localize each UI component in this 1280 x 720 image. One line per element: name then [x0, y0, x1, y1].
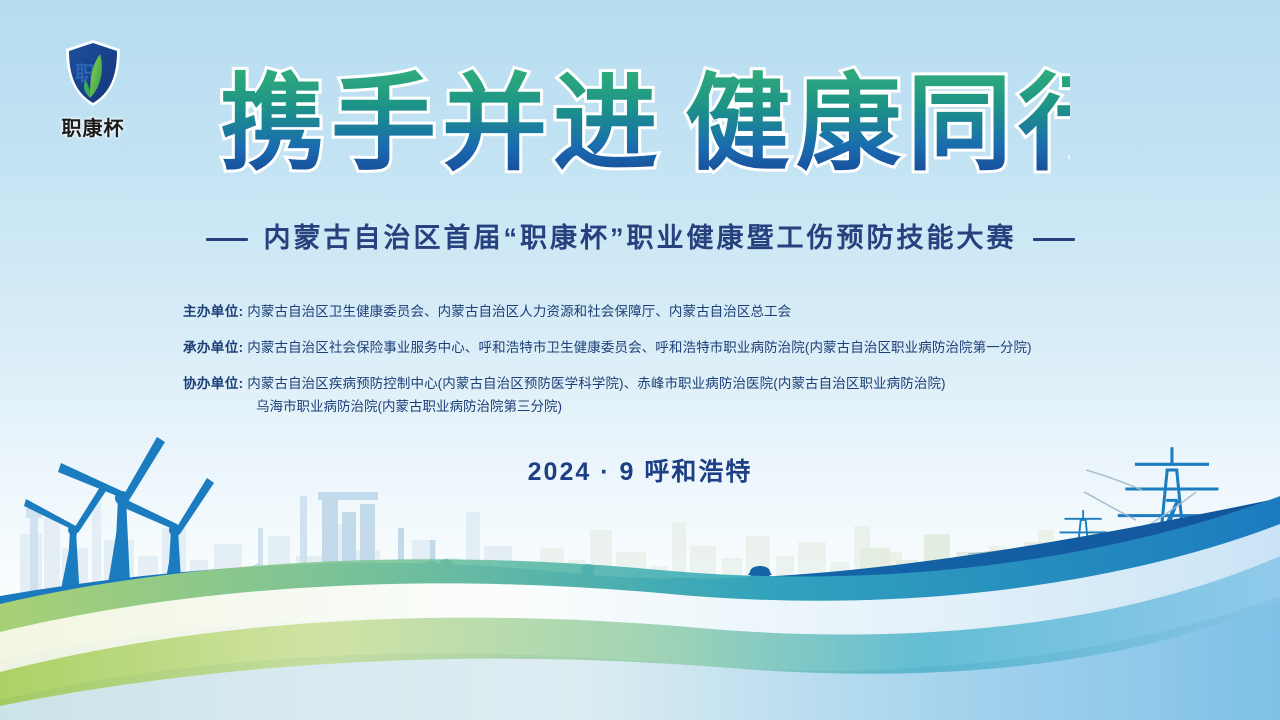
organizer-label: 主办单位:: [183, 304, 244, 319]
main-title-art: 携手并进 健康同行: [210, 60, 1070, 195]
organizer-value: 内蒙古自治区卫生健康委员会、内蒙古自治区人力资源和社会保障厅、内蒙古自治区总工会: [247, 304, 791, 319]
main-title-line1: 携手并进: [220, 63, 664, 185]
subtitle-dash-left: [206, 238, 248, 241]
poster-canvas: 职 职康杯 携手并进 健康同行 内蒙古自治区首届“职康杯”职业健康暨工伤预防技能…: [0, 0, 1280, 720]
organizer-row: 协办单位: 内蒙古自治区疾病预防控制中心(内蒙古自治区预防医学科学院)、赤峰市职…: [183, 370, 1183, 420]
main-title: 携手并进 健康同行: [0, 60, 1280, 200]
organizer-label: 协办单位:: [183, 376, 244, 391]
organizer-value: 内蒙古自治区社会保险事业服务中心、呼和浩特市卫生健康委员会、呼和浩特市职业病防治…: [247, 340, 1031, 355]
main-title-line2: 健康同行: [685, 63, 1070, 185]
subtitle-dash-right: [1033, 238, 1075, 241]
organizer-value: 内蒙古自治区疾病预防控制中心(内蒙古自治区预防医学科学院)、赤峰市职业病防治医院…: [247, 376, 945, 391]
organizer-list: 主办单位: 内蒙古自治区卫生健康委员会、内蒙古自治区人力资源和社会保障厅、内蒙古…: [183, 298, 1183, 429]
organizer-label: 承办单位:: [183, 340, 244, 355]
date-location: 2024 · 9 呼和浩特: [0, 452, 1280, 488]
subtitle-text: 内蒙古自治区首届“职康杯”职业健康暨工伤预防技能大赛: [264, 223, 1017, 253]
organizer-row: 主办单位: 内蒙古自治区卫生健康委员会、内蒙古自治区人力资源和社会保障厅、内蒙古…: [183, 298, 1183, 325]
subtitle-row: 内蒙古自治区首届“职康杯”职业健康暨工伤预防技能大赛: [0, 216, 1280, 255]
organizer-value-continued: 乌海市职业病防治院(内蒙古职业病防治院第三分院): [183, 393, 1183, 420]
organizer-row: 承办单位: 内蒙古自治区社会保险事业服务中心、呼和浩特市卫生健康委员会、呼和浩特…: [183, 334, 1183, 361]
